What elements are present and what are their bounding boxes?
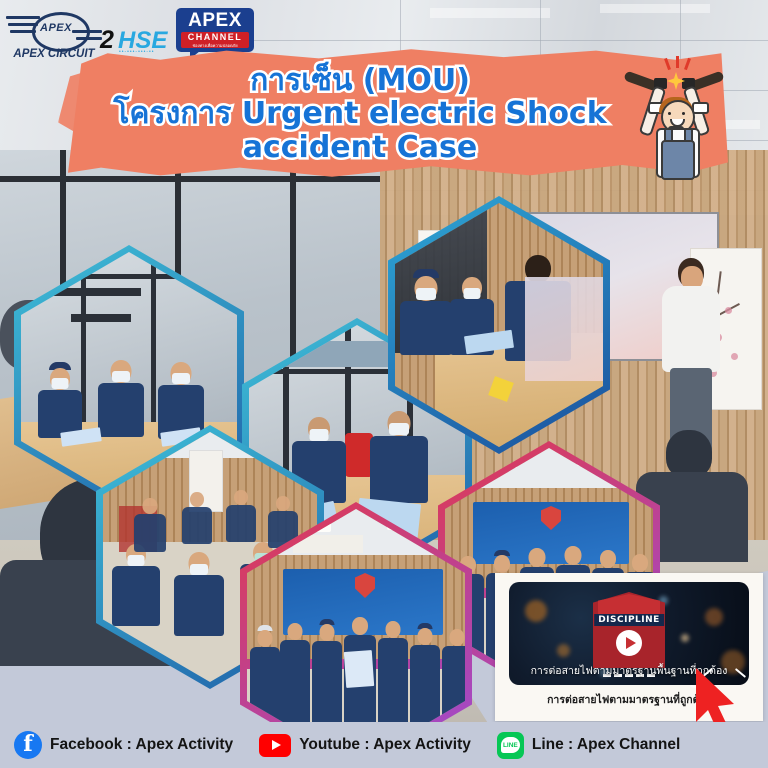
play-icon[interactable] <box>616 630 642 656</box>
line-icon[interactable]: LINE <box>497 732 524 759</box>
footer-item-line[interactable]: LINE Line : Apex Channel <box>497 732 680 759</box>
hse-subtitle: ••-•••-•••-•• <box>119 49 155 55</box>
discipline-badge-top <box>598 594 660 616</box>
channel-thai-subtitle: ช่องทางเพื่อความปลอดภัย <box>181 42 249 49</box>
social-footer: Facebook : Apex Activity Youtube : Apex … <box>0 722 768 768</box>
hse-logo: 2 HSE ••-•••-•••-•• <box>100 26 178 58</box>
youtube-icon[interactable] <box>259 734 291 757</box>
hse-number: 2 <box>100 26 114 55</box>
footer-label-youtube: Youtube : Apex Activity <box>299 736 471 754</box>
electric-shock-worker-icon <box>620 56 730 176</box>
channel-title: APEX <box>176 10 254 32</box>
footer-item-facebook[interactable]: Facebook : Apex Activity <box>14 731 233 759</box>
title-line-2: โครงการ Urgent electric Shock <box>113 97 606 131</box>
audience-head <box>666 430 712 478</box>
title-line-3: accident Case <box>243 131 478 165</box>
apex-circuit-logo: APEX APEX CIRCUIT <box>6 10 102 62</box>
poster-root: APEXT APEX <box>0 0 768 768</box>
line-icon-glyph: LINE <box>503 742 518 749</box>
mouse-cursor-icon <box>694 668 738 730</box>
footer-label-facebook: Facebook : Apex Activity <box>50 736 233 754</box>
footer-item-youtube[interactable]: Youtube : Apex Activity <box>259 734 471 757</box>
title-line-1: การเซ็น (MOU) <box>250 64 470 98</box>
speaker-person <box>660 258 722 458</box>
discipline-badge-label: DISCIPLINE <box>594 614 664 626</box>
facebook-icon[interactable] <box>14 731 42 759</box>
footer-label-line: Line : Apex Channel <box>532 736 680 754</box>
poster-title: การเซ็น (MOU) โครงการ Urgent electric Sh… <box>80 58 640 170</box>
apex-mark-text: APEX <box>40 22 72 34</box>
